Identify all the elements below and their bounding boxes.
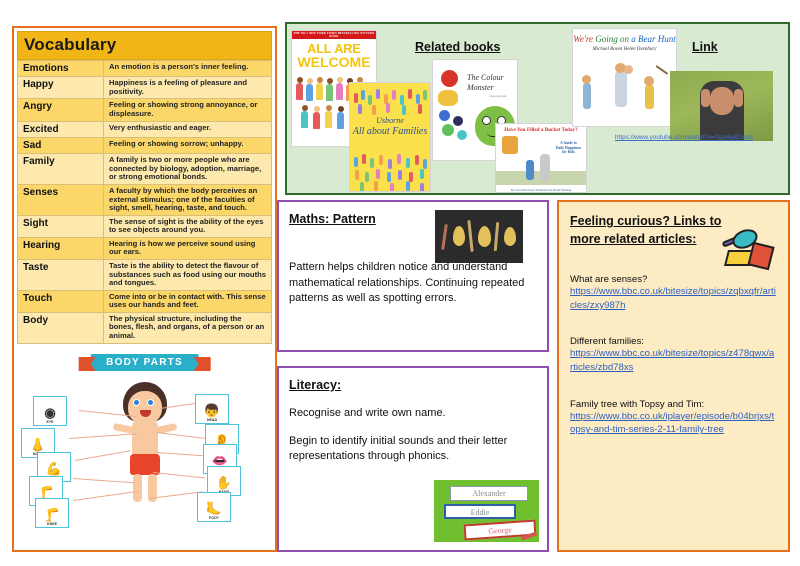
right-hand	[734, 89, 743, 107]
hand-icon: ✋	[216, 476, 232, 490]
arm-icon: 💪	[46, 462, 62, 476]
person-face	[710, 87, 734, 115]
vocab-term: Angry	[18, 99, 104, 121]
book-cover-all-about-families: Usborne All about Families	[349, 82, 431, 192]
book-title-line2: WELCOME	[292, 55, 376, 69]
table-row: BodyThe physical structure, including th…	[18, 312, 272, 343]
table-row: TasteTaste is the ability to detect the …	[18, 259, 272, 290]
vocab-term: Taste	[18, 259, 104, 290]
book-illustration-top	[352, 87, 430, 115]
related-books-panel: Related books Link THE NO.1 NEW YORK TIM…	[285, 22, 790, 195]
body-part-label-foot: 🦶FOOT	[197, 492, 231, 522]
vocab-definition: Very enthusiastic and eager.	[104, 121, 272, 137]
vocab-definition: A faculty by which the body perceives an…	[104, 184, 272, 215]
left-eye-shape	[133, 399, 140, 406]
literacy-line-1: Recognise and write own name.	[289, 406, 537, 422]
knee-icon: 🦵	[44, 508, 60, 522]
table-row: SightThe sense of sight is the ability o…	[18, 215, 272, 237]
body-part-name: HEAD	[207, 418, 217, 422]
name-card: Eddie	[444, 504, 516, 519]
literacy-line-2: Begin to identify initial sounds and the…	[289, 434, 537, 465]
book-title: All about Families	[350, 126, 430, 137]
vocab-term: Emotions	[18, 61, 104, 77]
vocab-definition: Come into or be in contact with. This se…	[104, 290, 272, 312]
vocab-term: Senses	[18, 184, 104, 215]
vocab-definition: Feeling or showing strong annoyance, or …	[104, 99, 272, 121]
body-part-name: FOOT	[209, 516, 219, 520]
child-figure	[526, 160, 534, 180]
links-panel-title: Feeling curious? Links to more related a…	[570, 212, 740, 248]
vocab-term: Hearing	[18, 237, 104, 259]
table-row: ExcitedVery enthusiastic and eager.	[18, 121, 272, 137]
article-link[interactable]: https://www.bbc.co.uk/bitesize/topics/zq…	[570, 285, 777, 312]
literacy-panel: Literacy: Recognise and write own name. …	[277, 366, 549, 552]
bucket-badge	[502, 136, 518, 154]
left-leg-shape	[133, 474, 142, 502]
book-cover-filled-a-bucket: Have You Filled a Bucket Today? A Guide …	[495, 123, 587, 193]
link-section-title: Link	[692, 40, 718, 54]
book-shape	[747, 242, 774, 271]
table-row: HappyHappiness is a feeling of pleasure …	[18, 77, 272, 99]
link-label: Family tree with Topsy and Tim:	[570, 399, 777, 410]
magnifying-glass-icon	[722, 228, 778, 274]
literacy-title: Literacy:	[289, 378, 341, 392]
vocab-definition: The physical structure, including the bo…	[104, 312, 272, 343]
table-row: SadFeeling or showing sorrow; unhappy.	[18, 137, 272, 153]
video-thumbnail[interactable]	[670, 71, 773, 141]
article-link[interactable]: https://www.bbc.co.uk/iplayer/episode/b0…	[570, 410, 777, 437]
vocab-term: Body	[18, 312, 104, 343]
related-books-title: Related books	[415, 40, 500, 54]
book-banner: THE NO.1 NEW YORK TIMES BESTSELLING PICT…	[292, 31, 376, 39]
body-parts-child-figure	[109, 382, 181, 502]
vocab-term: Touch	[18, 290, 104, 312]
body-parts-banner: BODY PARTS	[90, 354, 199, 371]
youtube-link[interactable]: https://www.youtube.com/watch?v=0gyI6ykD…	[615, 134, 753, 141]
maths-text: Pattern helps children notice and unders…	[289, 260, 537, 307]
vocab-term: Family	[18, 154, 104, 185]
eye-icon: ◉	[44, 406, 55, 420]
pattern-photo	[435, 210, 523, 263]
table-row: HearingHearing is how we perceive sound …	[18, 237, 272, 259]
body-part-label-knee: 🦵KNEE	[35, 498, 69, 528]
vocab-term: Excited	[18, 121, 104, 137]
name-card: Alexander	[450, 486, 528, 501]
table-row: EmotionsAn emotion is a person's inner f…	[18, 61, 272, 77]
knowledge-organiser-page: Vocabulary EmotionsAn emotion is a perso…	[0, 0, 800, 566]
vocab-definition: The sense of sight is the ability of the…	[104, 215, 272, 237]
table-row: TouchCome into or be in contact with. Th…	[18, 290, 272, 312]
body-part-name: KNEE	[47, 522, 57, 526]
body-part-label-head: 👦HEAD	[195, 394, 229, 424]
spacer	[570, 312, 777, 325]
book-subtitle: a pop-up book	[489, 94, 506, 98]
book-title: Have You Filled a Bucket Today?	[496, 127, 586, 133]
link-label: What are senses?	[570, 274, 777, 285]
book-title-prefix: Usborne	[350, 116, 430, 126]
body-part-label-eye: ◉EYE	[33, 396, 67, 426]
book-byline: By Carol McCloud • Illustrated by David …	[496, 188, 586, 192]
face-shape	[128, 391, 162, 424]
vocab-definition: Happiness is a feeling of pleasure and p…	[104, 77, 272, 99]
body-part-name: EYE	[46, 420, 53, 424]
article-link[interactable]: https://www.bbc.co.uk/bitesize/topics/z4…	[570, 347, 777, 374]
vocab-definition: Hearing is how we perceive sound using o…	[104, 237, 272, 259]
spacer	[570, 375, 777, 388]
book-title: The ColourMonster	[467, 73, 504, 93]
body-parts-illustration: BODY PARTS	[17, 350, 272, 518]
vocabulary-title: Vocabulary	[17, 31, 272, 60]
book-illustration-bottom	[352, 153, 430, 191]
book-authors: Michael Rosen Helen Oxenbury	[573, 47, 676, 52]
vocab-term: Happy	[18, 77, 104, 99]
vocab-definition: Feeling or showing sorrow; unhappy.	[104, 137, 272, 153]
vocab-term: Sight	[18, 215, 104, 237]
person-figure	[700, 81, 744, 141]
torso-shape	[132, 421, 158, 457]
book-title: We're Going on a Bear Hunt	[573, 34, 676, 44]
name-cards-photo: Alexander Eddie George	[434, 480, 539, 542]
vocab-definition: Taste is the ability to detect the flavo…	[104, 259, 272, 290]
table-row: SensesA faculty by which the body percei…	[18, 184, 272, 215]
links-panel: Feeling curious? Links to more related a…	[557, 200, 790, 552]
vocab-term: Sad	[18, 137, 104, 153]
vocabulary-table: EmotionsAn emotion is a person's inner f…	[17, 60, 272, 344]
left-hand	[701, 89, 710, 107]
book-illustration	[577, 63, 674, 123]
right-eye-shape	[147, 399, 154, 406]
vocabulary-panel: Vocabulary EmotionsAn emotion is a perso…	[12, 26, 277, 552]
vocab-definition: A family is two or more people who are c…	[104, 154, 272, 185]
nose-icon: 👃	[30, 438, 46, 452]
book-cover-bear-hunt: We're Going on a Bear Hunt Michael Rosen…	[572, 28, 677, 127]
vocab-definition: An emotion is a person's inner feeling.	[104, 61, 272, 77]
table-row: AngryFeeling or showing strong annoyance…	[18, 99, 272, 121]
foot-icon: 🦶	[206, 502, 222, 516]
book-subtitle: A Guide toDaily Happinessfor Kids	[556, 141, 581, 155]
link-label: Different families:	[570, 336, 777, 347]
maths-panel: Maths: Pattern Pattern helps children no…	[277, 200, 549, 352]
maths-title: Maths: Pattern	[289, 212, 376, 226]
head-icon: 👦	[204, 404, 220, 418]
adult-figure	[540, 154, 550, 182]
table-row: FamilyA family is two or more people who…	[18, 154, 272, 185]
